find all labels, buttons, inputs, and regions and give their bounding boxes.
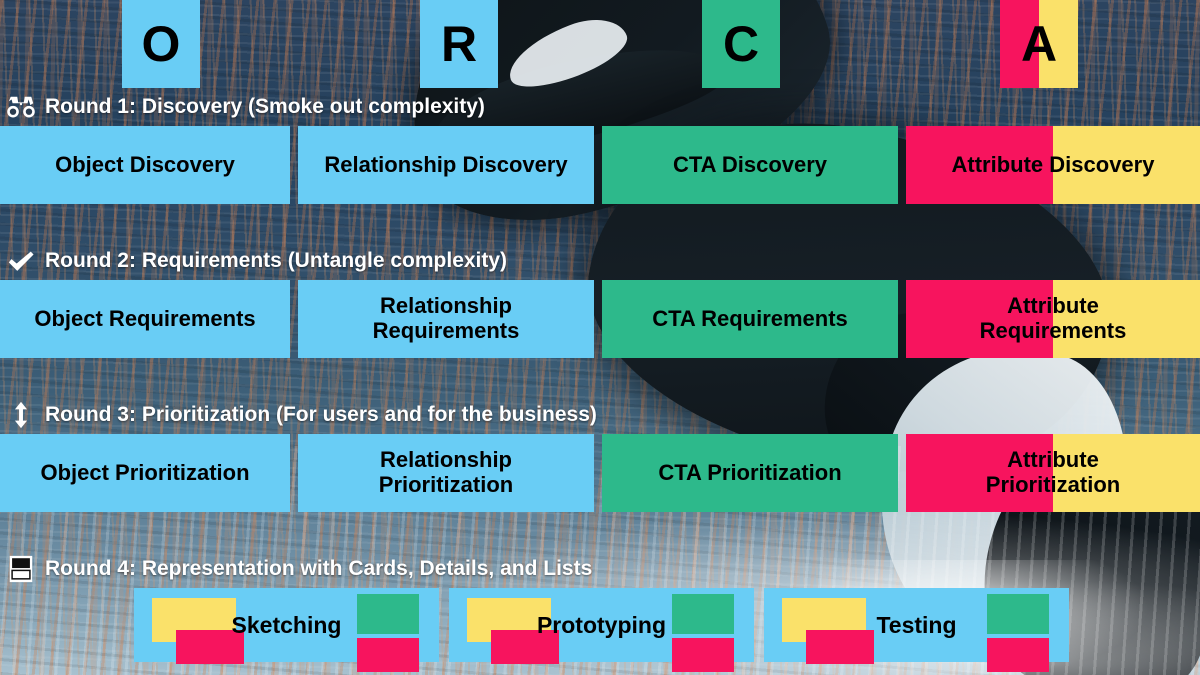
- column-gap: [594, 434, 602, 512]
- cell-object-prioritization[interactable]: Object Prioritization: [0, 434, 290, 512]
- cell-label: Relationship Discovery: [318, 153, 573, 178]
- pink-list-shape: [672, 638, 734, 672]
- cell-attribute-requirements[interactable]: AttributeRequirements: [906, 280, 1200, 358]
- acronym-tile-o: O: [122, 0, 200, 88]
- acronym-tile-c: C: [702, 0, 780, 88]
- cell-attribute-prioritization[interactable]: AttributePrioritization: [906, 434, 1200, 512]
- round-1-section: Round 1: Discovery (Smoke out complexity…: [0, 88, 1200, 204]
- pink-card-shape: [806, 630, 874, 664]
- round-2-row: Object Requirements RelationshipRequirem…: [0, 280, 1200, 358]
- cell-label: CTA Requirements: [646, 307, 854, 332]
- acronym-letter-o: O: [142, 19, 181, 69]
- round-3-section: Round 3: Prioritization (For users and f…: [0, 396, 1200, 512]
- orca-acronym-header: O R C A: [0, 0, 1200, 88]
- cell-label: Prototyping: [537, 612, 666, 639]
- cell-testing[interactable]: Testing: [764, 588, 1069, 662]
- acronym-tile-r: R: [420, 0, 498, 88]
- binoculars-icon: [6, 92, 36, 122]
- cell-label: RelationshipPrioritization: [373, 448, 519, 497]
- cell-sketching[interactable]: Sketching: [134, 588, 439, 662]
- cell-relationship-discovery[interactable]: Relationship Discovery: [298, 126, 594, 204]
- pink-list-shape: [987, 638, 1049, 672]
- round-2-header: Round 2: Requirements (Untangle complexi…: [0, 242, 1200, 280]
- round-4-section: Round 4: Representation with Cards, Deta…: [0, 550, 1200, 662]
- column-gap: [898, 434, 906, 512]
- green-list-shape: [672, 594, 734, 634]
- cell-label: Attribute Discovery: [946, 153, 1161, 178]
- acronym-letter-a: A: [1021, 19, 1057, 69]
- cell-label: Sketching: [232, 612, 342, 639]
- round-4-header: Round 4: Representation with Cards, Deta…: [0, 550, 1200, 588]
- round-3-row: Object Prioritization RelationshipPriori…: [0, 434, 1200, 512]
- cell-label: CTA Prioritization: [652, 461, 847, 486]
- column-gap: [290, 126, 298, 204]
- cell-label: AttributePrioritization: [980, 448, 1126, 497]
- round-2-title: Round 2: Requirements (Untangle complexi…: [45, 249, 507, 273]
- acronym-letter-c: C: [723, 19, 759, 69]
- pink-list-shape: [357, 638, 419, 672]
- round-2-section: Round 2: Requirements (Untangle complexi…: [0, 242, 1200, 358]
- card-layout-icon: [6, 554, 36, 584]
- cell-attribute-discovery[interactable]: Attribute Discovery: [906, 126, 1200, 204]
- round-1-header: Round 1: Discovery (Smoke out complexity…: [0, 88, 1200, 126]
- round-1-title: Round 1: Discovery (Smoke out complexity…: [45, 95, 485, 119]
- cell-object-discovery[interactable]: Object Discovery: [0, 126, 290, 204]
- up-down-arrow-icon: [6, 400, 36, 430]
- round-3-header: Round 3: Prioritization (For users and f…: [0, 396, 1200, 434]
- column-gap: [898, 280, 906, 358]
- column-gap: [898, 126, 906, 204]
- column-gap: [594, 126, 602, 204]
- cell-relationship-prioritization[interactable]: RelationshipPrioritization: [298, 434, 594, 512]
- cell-label: Object Requirements: [28, 307, 261, 332]
- cell-label: Testing: [876, 612, 956, 639]
- cell-label: Object Discovery: [49, 153, 241, 178]
- checkmark-icon: [6, 246, 36, 276]
- column-gap: [290, 280, 298, 358]
- round-4-row: Sketching Prototyping Testing: [0, 588, 1200, 662]
- cell-label: CTA Discovery: [667, 153, 833, 178]
- cell-label: RelationshipRequirements: [367, 294, 526, 343]
- cell-relationship-requirements[interactable]: RelationshipRequirements: [298, 280, 594, 358]
- round-1-row: Object Discovery Relationship Discovery …: [0, 126, 1200, 204]
- cell-prototyping[interactable]: Prototyping: [449, 588, 754, 662]
- acronym-letter-r: R: [441, 19, 477, 69]
- cell-cta-discovery[interactable]: CTA Discovery: [602, 126, 898, 204]
- cell-label: AttributeRequirements: [974, 294, 1133, 343]
- acronym-tile-a: A: [1000, 0, 1078, 88]
- cell-cta-requirements[interactable]: CTA Requirements: [602, 280, 898, 358]
- cell-label: Object Prioritization: [34, 461, 255, 486]
- cell-cta-prioritization[interactable]: CTA Prioritization: [602, 434, 898, 512]
- column-gap: [290, 434, 298, 512]
- round-4-title: Round 4: Representation with Cards, Deta…: [45, 557, 592, 581]
- green-list-shape: [357, 594, 419, 634]
- round-3-title: Round 3: Prioritization (For users and f…: [45, 403, 597, 427]
- column-gap: [594, 280, 602, 358]
- green-list-shape: [987, 594, 1049, 634]
- cell-object-requirements[interactable]: Object Requirements: [0, 280, 290, 358]
